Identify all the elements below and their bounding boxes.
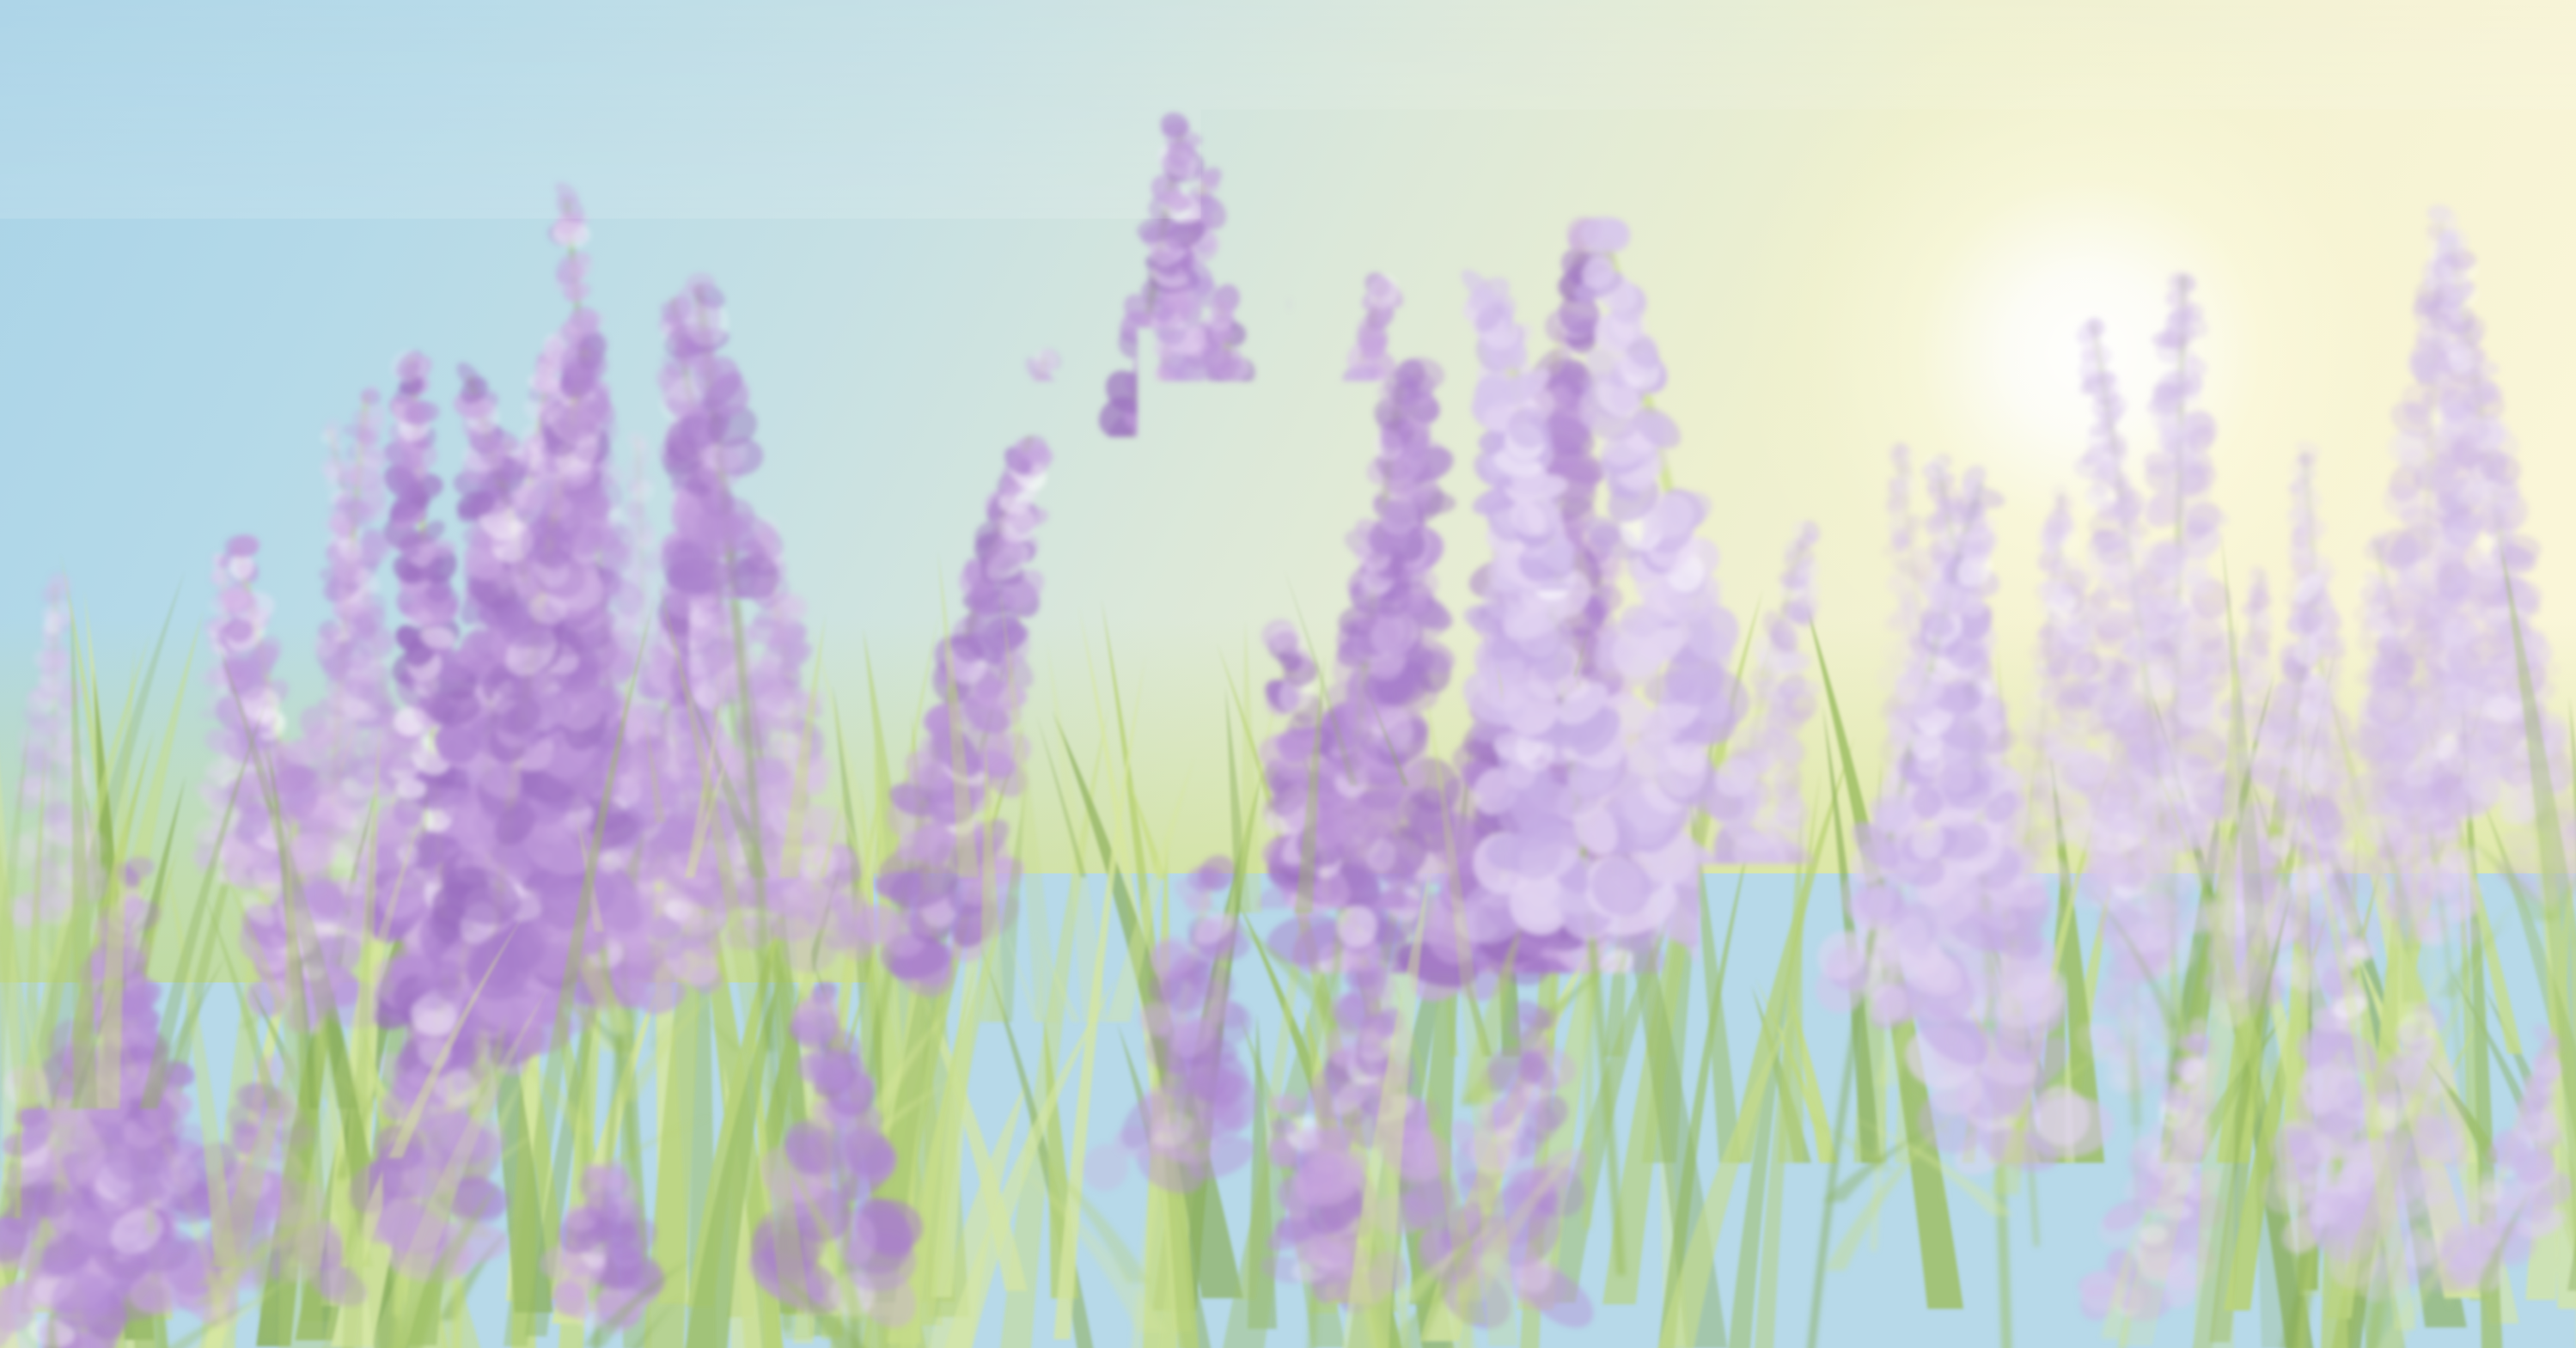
mondoo-logo[interactable]: mondoo (1571, 119, 2471, 282)
mondoo-wordmark: mondoo (1913, 125, 2471, 269)
mondoo-logo-mark-icon (1571, 119, 1863, 282)
page-title: Release Highlights (395, 550, 2011, 715)
release-highlights-banner: mondoo Release Highlights March 2025 (0, 0, 2576, 1348)
headline-block: Release Highlights March 2025 (395, 550, 2011, 878)
page-subtitle: March 2025 (395, 753, 2011, 878)
